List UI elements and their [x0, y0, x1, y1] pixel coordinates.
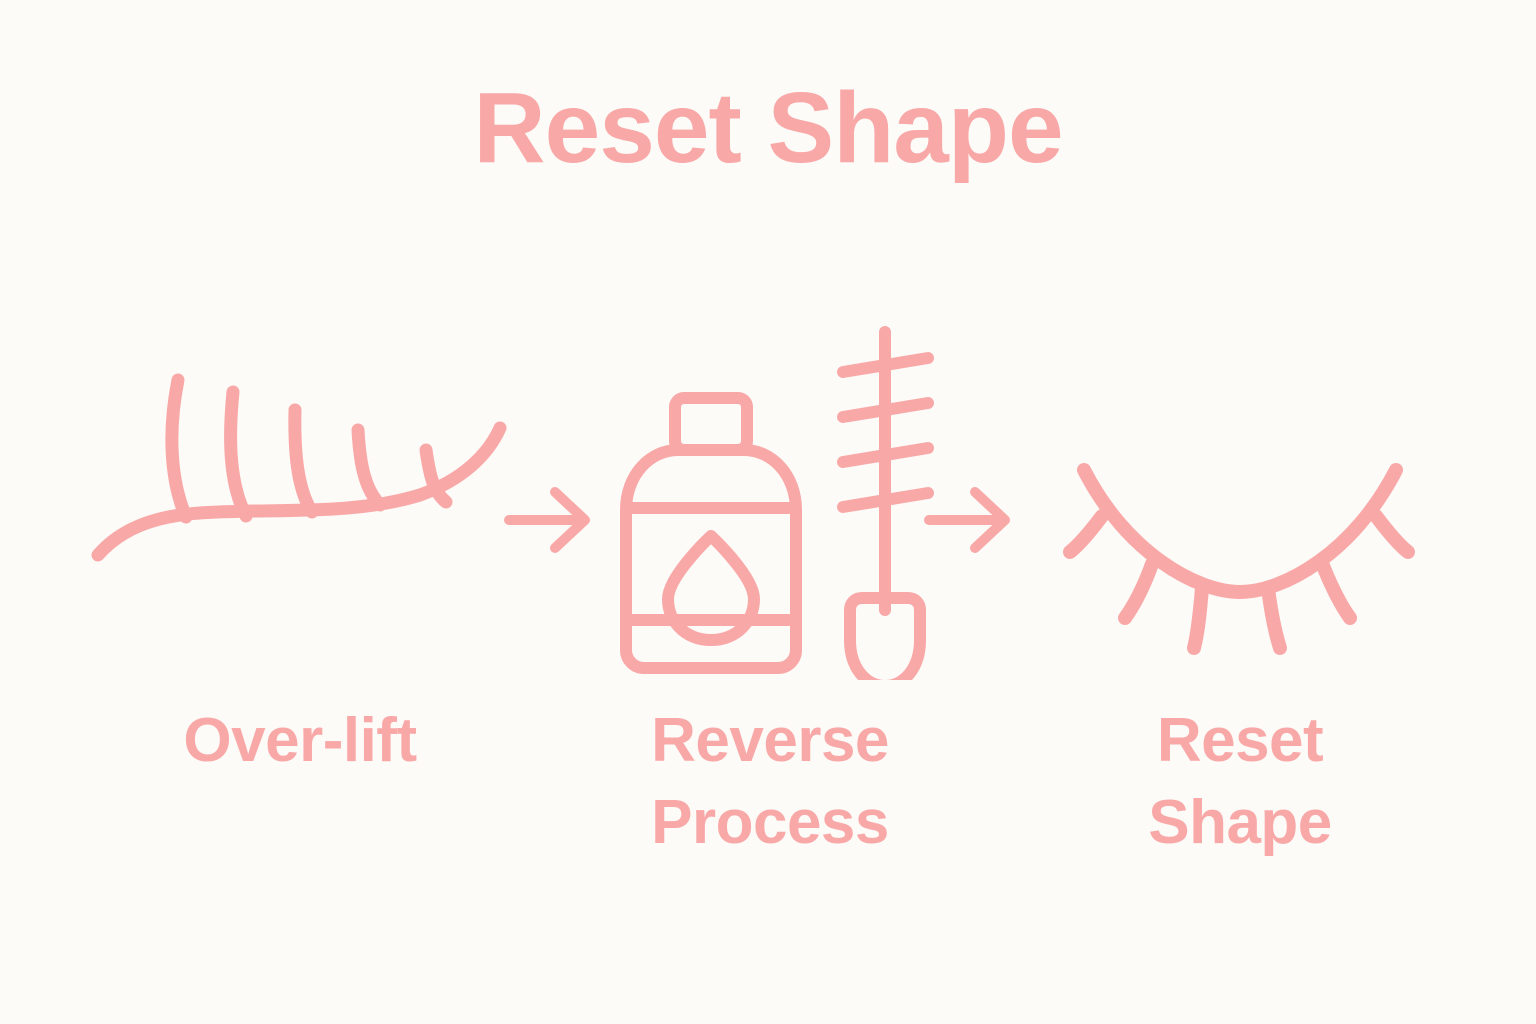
step-label-reset-shape: Reset Shape: [1030, 700, 1450, 864]
closed-eye-natural-lashes-icon: [1030, 320, 1450, 680]
over-lifted-lashes-icon: [90, 320, 510, 680]
step-label-line-2: Shape: [1030, 782, 1450, 864]
bottle-cap: [675, 398, 747, 450]
step-reset-shape: [1030, 320, 1450, 680]
step-label-reverse-process: Reverse Process: [560, 700, 980, 864]
step-label-line-1: Over-lift: [90, 700, 510, 782]
page-title: Reset Shape: [0, 78, 1536, 178]
step-label-line-1: Reset: [1030, 700, 1450, 782]
arrow-right-icon: [915, 470, 1025, 570]
step-label-line-1: Reverse: [560, 700, 980, 782]
infographic-canvas: Reset Shape: [0, 0, 1536, 1024]
step-over-lift: [90, 320, 510, 680]
step-label-over-lift: Over-lift: [90, 700, 510, 782]
step-label-line-2: Process: [560, 782, 980, 864]
